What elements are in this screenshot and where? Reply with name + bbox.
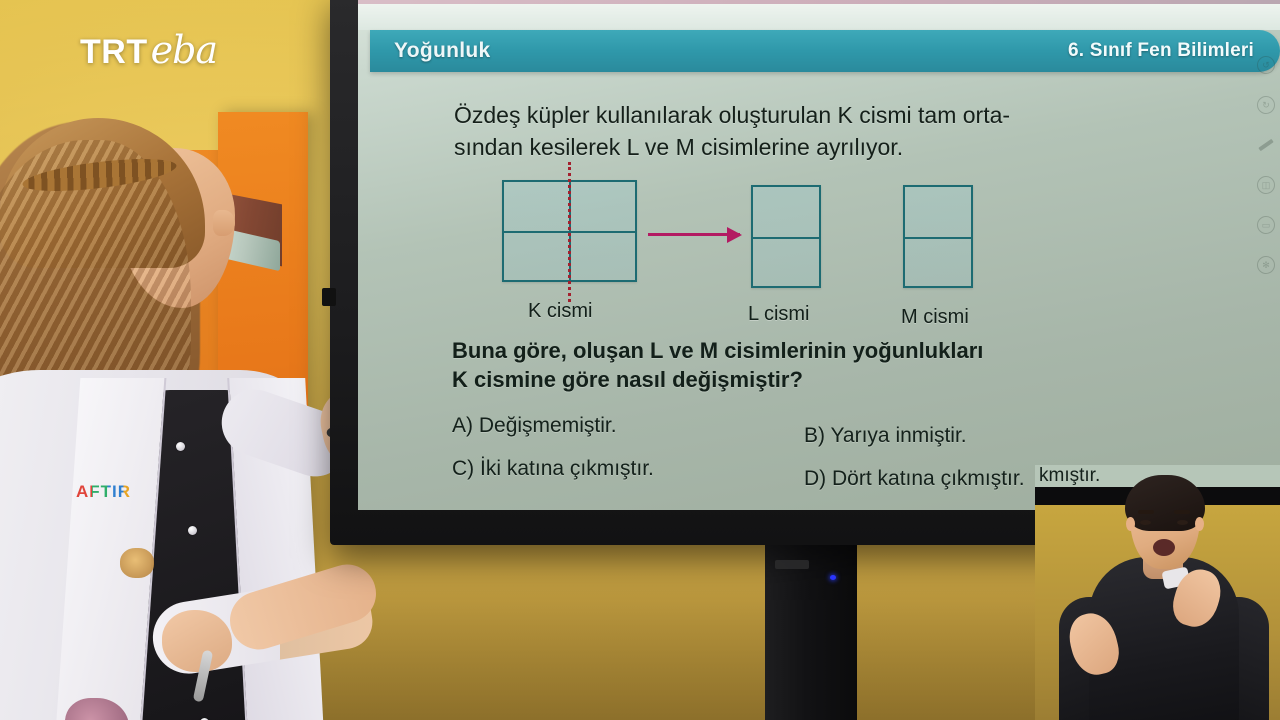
- answer-option-b-key: B): [804, 424, 825, 447]
- interpreter-eye-right: [1177, 520, 1188, 525]
- slide-course-title: 6. Sınıf Fen Bilimleri: [1068, 40, 1254, 62]
- presenter-teacher: AFTIR: [0, 70, 370, 720]
- redo-icon[interactable]: ↻: [1257, 96, 1275, 114]
- presenter-nose: [213, 210, 235, 236]
- question-prompt: Buna göre, oluşan L ve M cisimlerinin yo…: [452, 336, 1172, 395]
- answer-option-a[interactable]: A) Değişmemiştir.: [452, 414, 617, 438]
- figure-l-horizontal-divider: [751, 237, 821, 239]
- figure-l-label: L cismi: [748, 303, 809, 326]
- transform-arrow-icon: [648, 233, 740, 236]
- answer-option-a-key: A): [452, 414, 473, 437]
- display-stand: [765, 545, 857, 720]
- figure-m-horizontal-divider: [903, 237, 973, 239]
- figure-m-object: [903, 185, 973, 288]
- answer-option-b[interactable]: B) Yarıya inmiştir.: [804, 424, 967, 448]
- interpreter-ear-right: [1195, 517, 1204, 531]
- display-power-led: [830, 575, 836, 580]
- answer-option-d[interactable]: D) Dört katına çıkmıştır.: [804, 467, 1025, 491]
- coat-button: [188, 526, 197, 535]
- figure-l-object: [751, 185, 821, 288]
- presenter-coat-badge: AFTIR: [76, 482, 148, 506]
- presenter-coat-pin: [120, 548, 154, 578]
- answer-option-b-text: Yarıya inmiştir.: [830, 424, 966, 447]
- eraser-icon[interactable]: ◫: [1257, 176, 1275, 194]
- settings-icon[interactable]: ✻: [1257, 256, 1275, 274]
- answer-option-c-text: İki katına çıkmıştır.: [480, 457, 654, 480]
- coat-button: [176, 442, 185, 451]
- trt-eba-logo: TRT eba: [80, 28, 217, 72]
- question-stem-line-2: sından kesilerek L ve M cisimlerine ayrı…: [454, 132, 1166, 164]
- figure-k-label: K cismi: [528, 300, 592, 323]
- sign-language-interpreter: kmıştır.: [1035, 465, 1280, 720]
- presenter-left-hand: [162, 610, 232, 672]
- interpreter-eyebrow-right: [1174, 510, 1190, 514]
- interpreter-hair: [1125, 475, 1205, 531]
- answer-option-d-text: Dört katına çıkmıştır.: [832, 467, 1025, 490]
- answer-option-a-text: Değişmemiştir.: [479, 414, 617, 437]
- interpreter-mouth: [1153, 539, 1175, 556]
- board-toolbar[interactable]: ↺ ↻ ◫ ▭ ✻: [1254, 56, 1278, 274]
- answer-option-d-key: D): [804, 467, 826, 490]
- question-prompt-line-2: K cismine göre nasıl değişmiştir?: [452, 367, 803, 392]
- display-ir-sensor: [775, 560, 809, 569]
- video-frame: TRT eba AFTIR: [0, 0, 1280, 720]
- slide-header-bar: Yoğunluk 6. Sınıf Fen Bilimleri: [370, 30, 1280, 72]
- cube-diagram: K cismi L cismi M cismi: [358, 170, 1280, 350]
- figure-m-label: M cismi: [901, 306, 969, 329]
- question-stem: Özdeş küpler kullanılarak oluşturulan K …: [454, 100, 1166, 163]
- display-side-button[interactable]: [322, 288, 336, 306]
- cut-line-dotted: [568, 162, 571, 302]
- slide-top-band: [358, 4, 1280, 30]
- logo-trt-text: TRT: [80, 33, 148, 72]
- lesson-slide: Yoğunluk 6. Sınıf Fen Bilimleri Özdeş kü…: [358, 0, 1280, 510]
- shape-icon[interactable]: ▭: [1257, 216, 1275, 234]
- logo-eba-text: eba: [151, 28, 217, 72]
- question-stem-line-1: Özdeş küpler kullanılarak oluşturulan K …: [454, 102, 1010, 128]
- pen-icon[interactable]: [1257, 136, 1275, 154]
- interpreter-eye-left: [1140, 520, 1151, 525]
- slide-topic-title: Yoğunluk: [394, 39, 491, 63]
- undo-icon[interactable]: ↺: [1257, 56, 1275, 74]
- question-prompt-line-1: Buna göre, oluşan L ve M cisimlerinin yo…: [452, 338, 983, 363]
- answer-option-c-key: C): [452, 457, 474, 480]
- interpreter-ear-left: [1126, 517, 1135, 531]
- interpreter-bg-text: kmıştır.: [1039, 465, 1100, 487]
- interpreter-eyebrow-left: [1138, 510, 1154, 514]
- answer-option-c[interactable]: C) İki katına çıkmıştır.: [452, 457, 654, 481]
- display-screen[interactable]: Yoğunluk 6. Sınıf Fen Bilimleri Özdeş kü…: [358, 0, 1280, 510]
